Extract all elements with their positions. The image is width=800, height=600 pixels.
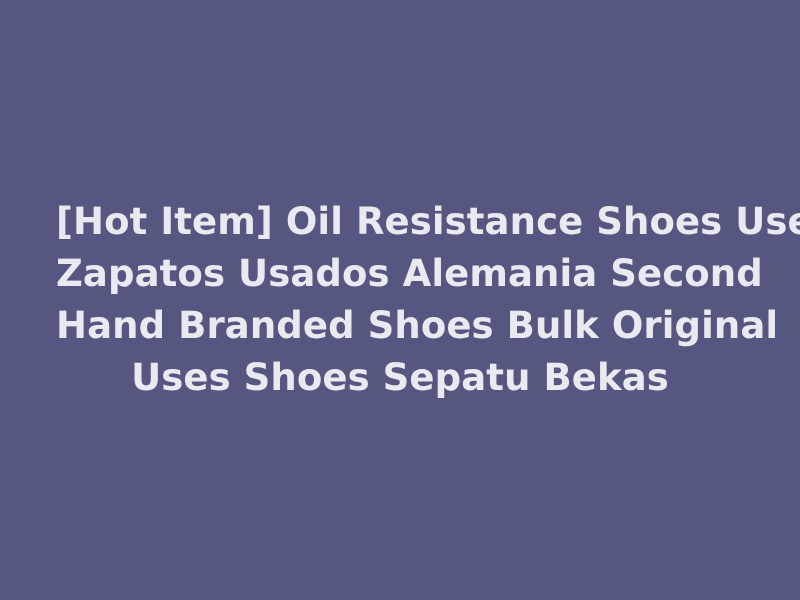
product-title-line-2: Zapatos Usados Alemania Second bbox=[56, 248, 744, 300]
product-title: [Hot Item] Oil Resistance Shoes Used Zap… bbox=[40, 196, 760, 404]
product-title-card: [Hot Item] Oil Resistance Shoes Used Zap… bbox=[0, 0, 800, 600]
product-title-line-1: [Hot Item] Oil Resistance Shoes Used bbox=[56, 196, 744, 248]
product-title-line-3: Hand Branded Shoes Bulk Original bbox=[56, 300, 744, 352]
product-title-line-4: Uses Shoes Sepatu Bekas bbox=[56, 352, 744, 404]
